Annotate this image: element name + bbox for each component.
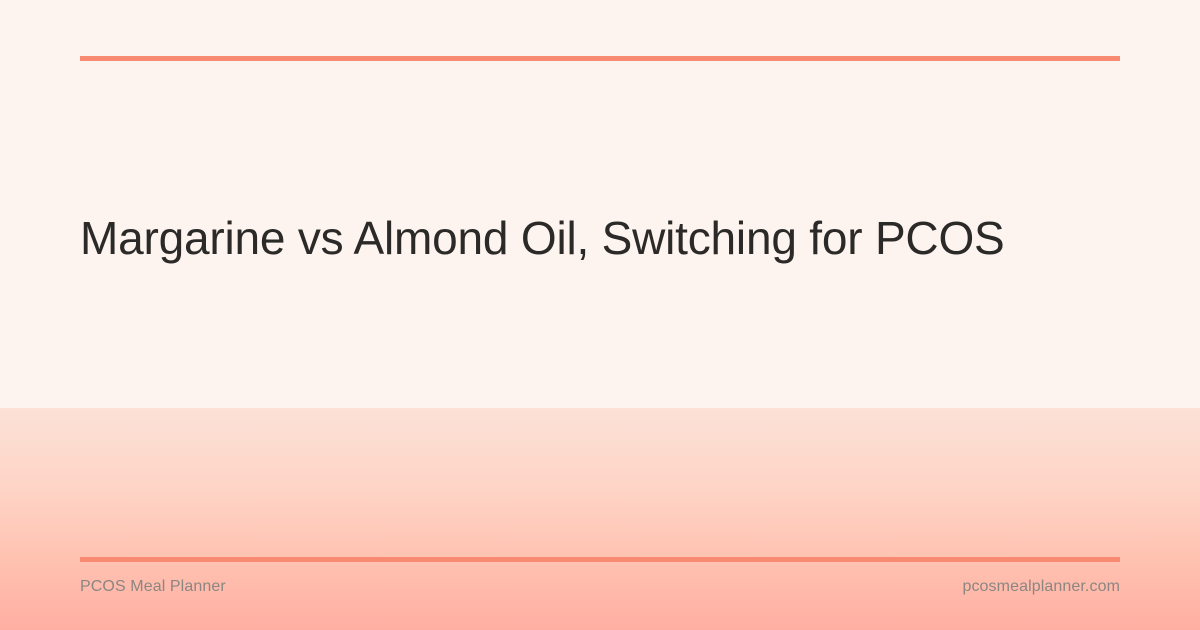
- footer: PCOS Meal Planner pcosmealplanner.com: [80, 576, 1120, 598]
- top-accent-rule: [80, 56, 1120, 61]
- share-card: Margarine vs Almond Oil, Switching for P…: [0, 0, 1200, 630]
- brand-name: PCOS Meal Planner: [80, 576, 226, 598]
- site-url: pcosmealplanner.com: [962, 576, 1120, 598]
- footer-accent-rule: [80, 557, 1120, 562]
- page-title: Margarine vs Almond Oil, Switching for P…: [80, 208, 1060, 268]
